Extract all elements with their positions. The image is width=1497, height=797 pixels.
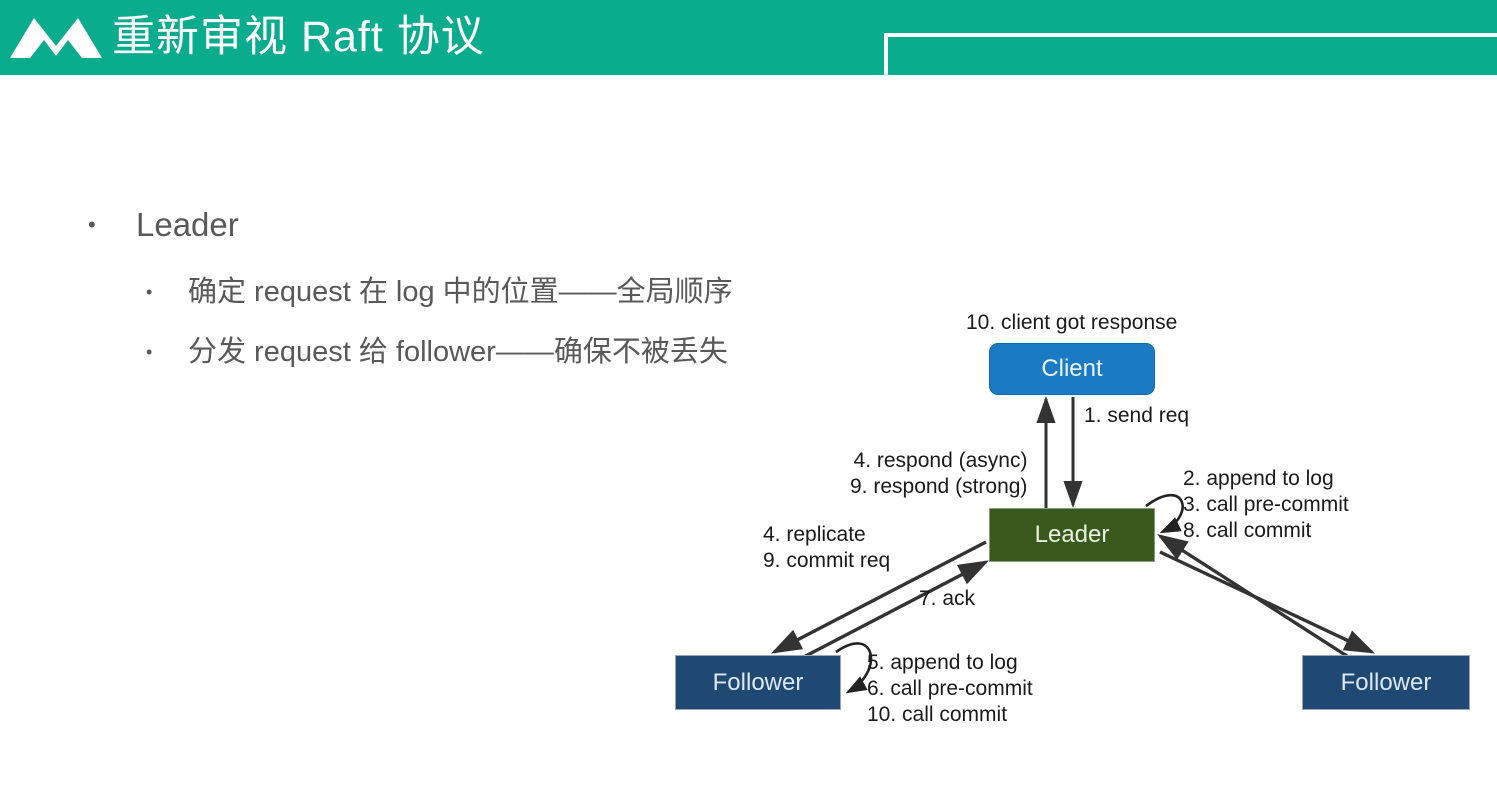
diagram-node-client[interactable]: Client xyxy=(989,343,1155,395)
bullet-marker-icon: • xyxy=(88,204,136,246)
diagram-label-follower-op-2: 6. call pre-commit xyxy=(867,676,1033,702)
diagram-label-commit-req: 9. commit req xyxy=(763,548,890,574)
diagram-label-respond-strong: 9. respond (strong) xyxy=(850,474,1027,500)
diagram-label-follower-ops-group: 5. append to log 6. call pre-commit 10. … xyxy=(867,650,1033,728)
header-accent-frame xyxy=(884,33,1497,75)
diagram-label-replicate: 4. replicate xyxy=(763,522,890,548)
diagram-node-follower-right[interactable]: Follower xyxy=(1302,655,1470,710)
raft-flow-diagram: Client Leader Follower Follower 10. clie… xyxy=(650,300,1490,740)
diagram-label-leader-op-3: 8. call commit xyxy=(1183,518,1349,544)
diagram-label-leader-ops-group: 2. append to log 3. call pre-commit 8. c… xyxy=(1183,466,1349,544)
diagram-node-follower-left[interactable]: Follower xyxy=(675,655,841,710)
diagram-label-client-got-response: 10. client got response xyxy=(966,310,1177,336)
diagram-label-respond-group: 4. respond (async) 9. respond (strong) xyxy=(850,448,1027,500)
bullet-text: Leader xyxy=(136,204,239,246)
slide-header: 重新审视 Raft 协议 xyxy=(0,0,1497,75)
diagram-label-follower-op-1: 5. append to log xyxy=(867,650,1033,676)
diagram-label-respond-async: 4. respond (async) xyxy=(850,448,1027,474)
diagram-label-send-req: 1. send req xyxy=(1084,403,1189,429)
page-title: 重新审视 Raft 协议 xyxy=(112,4,485,70)
diagram-label-leader-op-2: 3. call pre-commit xyxy=(1183,492,1349,518)
diagram-node-leader[interactable]: Leader xyxy=(989,508,1155,562)
diagram-label-leader-op-1: 2. append to log xyxy=(1183,466,1349,492)
diagram-label-ack: 7. ack xyxy=(919,586,975,612)
bullet-marker-icon: • xyxy=(146,332,188,372)
diagram-label-follower-op-3: 10. call commit xyxy=(867,702,1033,728)
bullet-marker-icon: • xyxy=(146,272,188,312)
bullet-item-leader: • Leader xyxy=(88,204,868,246)
mountain-m-logo-icon xyxy=(8,8,104,64)
diagram-label-replicate-group: 4. replicate 9. commit req xyxy=(763,522,890,574)
bullet-text: 分发 request 给 follower——确保不被丢失 xyxy=(188,332,728,372)
